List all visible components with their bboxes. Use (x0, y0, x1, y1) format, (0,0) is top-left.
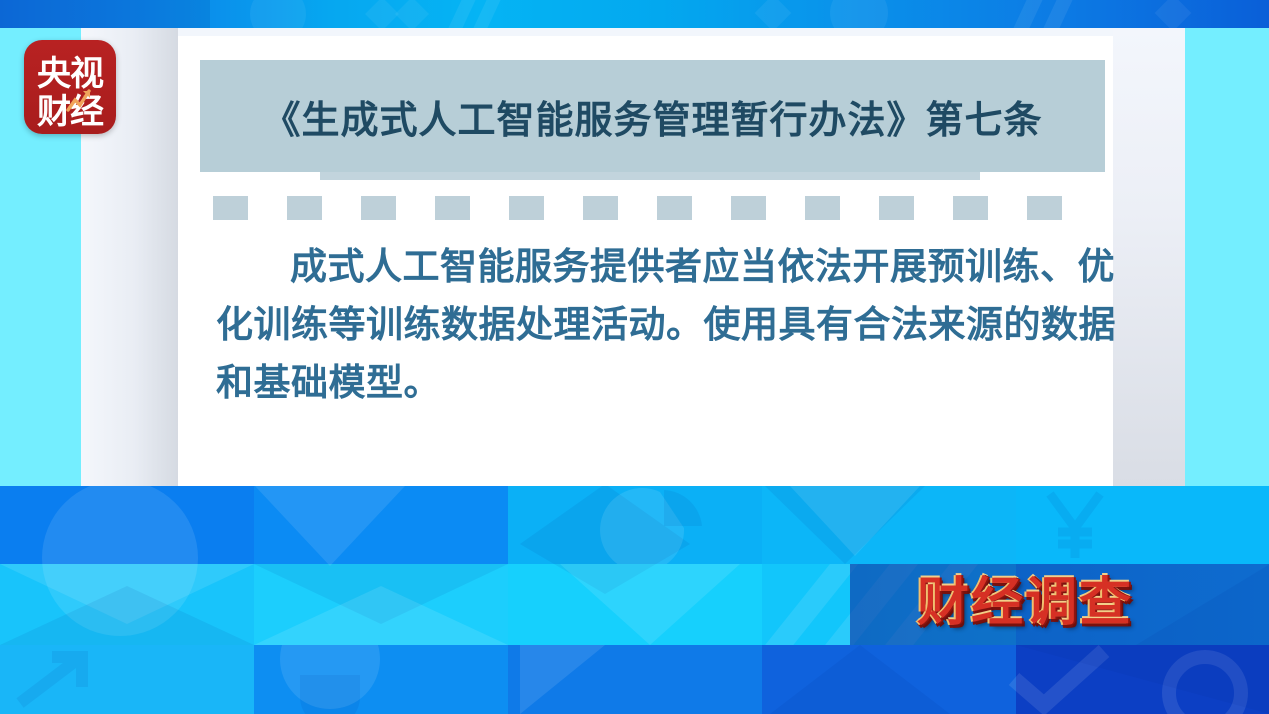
decorative-dash-row (213, 196, 1103, 220)
program-title-text: 财经调查 (917, 560, 1133, 635)
decorative-dash (879, 196, 914, 220)
decorative-dash (287, 196, 322, 220)
mosaic-xcross-shape (0, 564, 254, 645)
right-cyan-stripe (1185, 28, 1269, 486)
body-line-3: 和基础模型。 (216, 354, 1096, 412)
body-line-1: 成式人工智能服务提供者应当依法开展预训练、优 (216, 238, 1096, 296)
decorative-dash (805, 196, 840, 220)
broadcast-frame: 《生成式人工智能服务管理暂行办法》第七条 成式人工智能服务提供者应当依法开展预训… (0, 0, 1269, 714)
regulation-title-band: 《生成式人工智能服务管理暂行办法》第七条 (200, 60, 1105, 172)
top-blue-band (0, 0, 1269, 28)
yen-sign-icon (1030, 486, 1120, 564)
regulation-body-text: 成式人工智能服务提供者应当依法开展预训练、优 化训练等训练数据处理活动。使用具有… (216, 238, 1096, 412)
decorative-dash (213, 196, 248, 220)
arrow-up-right-icon (8, 645, 128, 714)
decorative-rule (320, 172, 980, 180)
decorative-dash (657, 196, 692, 220)
cctv-finance-logo-icon: 央视 财经 (24, 40, 116, 134)
mosaic-triangle-shape (255, 486, 405, 566)
mosaic-triangle-shape (770, 645, 950, 714)
decorative-dash (583, 196, 618, 220)
mosaic-triangle-shape (560, 564, 740, 645)
decorative-dash (509, 196, 544, 220)
body-line-2: 化训练等训练数据处理活动。使用具有合法来源的数据 (216, 296, 1096, 354)
page-title: 《生成式人工智能服务管理暂行办法》第七条 (262, 89, 1042, 144)
decorative-dash (361, 196, 396, 220)
mosaic-triangle-shape (790, 486, 920, 564)
mosaic-triangle-shape (1016, 645, 1269, 714)
circle-icon (255, 645, 405, 714)
logo-line-2: 财经 (24, 84, 116, 133)
decorative-dash (435, 196, 470, 220)
decorative-dash (1027, 196, 1062, 220)
mosaic-triangle-shape (520, 645, 690, 714)
background-panel-right-shade (1113, 28, 1185, 486)
decorative-dash (731, 196, 766, 220)
decorative-dash (953, 196, 988, 220)
program-title-art: 财经调查 (880, 563, 1170, 631)
pie-chart-icon (600, 486, 720, 564)
mosaic-xcross-shape (254, 564, 508, 645)
